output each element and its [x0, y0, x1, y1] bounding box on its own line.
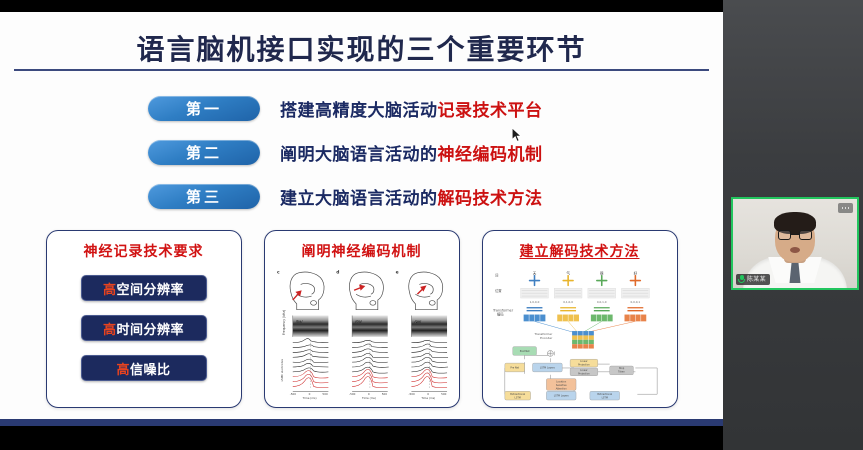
svg-text:500: 500 [381, 392, 387, 396]
bullet-pill-3: 第三 [148, 184, 260, 209]
svg-text:500: 500 [322, 392, 328, 396]
vocal-tract-spectrogram-chart: c d e [273, 265, 451, 401]
svg-text:Post Net: Post Net [519, 350, 529, 353]
glasses-icon [778, 230, 812, 240]
card-row: 神经记录技术要求 高空间分辨率 高时间分辨率 高信噪比 阐明神经编码机制 [0, 230, 723, 412]
requirement-label: 高信噪比 [116, 359, 170, 378]
svg-text:Time (ms): Time (ms) [360, 396, 375, 400]
svg-text:位置: 位置 [494, 288, 501, 293]
svg-text:Time (ms): Time (ms) [420, 396, 435, 400]
shared-screen-area: 语言脑机接口实现的三个重要环节 第一 搭建高精度大脑活动记录技术平台 第二 阐明… [0, 0, 723, 450]
requirement-rest: 信噪比 [130, 363, 171, 378]
svg-text:Frequency (kHz): Frequency (kHz) [281, 310, 285, 335]
participant-video-tile[interactable]: 陈某某 [731, 197, 859, 290]
requirement-box-3: 高信噪比 [81, 355, 207, 381]
bullet-text-3: 建立大脑语言活动的解码技术方法 [280, 184, 543, 209]
bullet-text-plain: 建立大脑语言活动的 [280, 189, 438, 209]
requirement-box-1: 高空间分辨率 [81, 275, 207, 301]
svg-text:Attention: Attention [555, 387, 566, 390]
requirement-prefix: 高 [103, 283, 117, 298]
transformer-flow-diagram: 词位置 Transformer编码 天气 很好 [491, 265, 669, 401]
decoding-architecture-figure: 词位置 Transformer编码 天气 很好 [491, 265, 669, 401]
svg-text:500: 500 [441, 392, 447, 396]
svg-text:LSTM: LSTM [514, 397, 520, 400]
bullet-row: 第二 阐明大脑语言活动的神经编码机制 [0, 134, 723, 170]
title-underline [14, 69, 709, 71]
svg-text:e: e [395, 271, 398, 276]
svg-text:-500: -500 [349, 392, 356, 396]
card-recording-requirements: 神经记录技术要求 高空间分辨率 高时间分辨率 高信噪比 [46, 230, 242, 408]
svg-text:-500: -500 [289, 392, 296, 396]
slide-footer-bar [0, 419, 723, 426]
bullet-text-plain: 搭建高精度大脑活动 [280, 101, 438, 121]
bullet-text-2: 阐明大脑语言活动的神经编码机制 [280, 140, 543, 165]
card-decoding-methods: 建立解码技术方法 词位置 Transformer编码 天气 很好 [482, 230, 678, 408]
requirement-box-2: 高时间分辨率 [81, 315, 207, 341]
microphone-icon [738, 275, 745, 284]
svg-text:Token: Token [618, 370, 625, 373]
bullet-row: 第三 建立大脑语言活动的解码技术方法 [0, 178, 723, 214]
bullet-text-highlight: 记录技术平台 [438, 101, 543, 121]
requirement-label: 高空间分辨率 [103, 279, 184, 298]
svg-text:LSTM Layers: LSTM Layers [553, 395, 569, 398]
svg-text:0,0,0,1: 0,0,0,1 [630, 300, 640, 304]
svg-text:Encoder: Encoder [540, 336, 553, 340]
card-title: 建立解码技术方法 [483, 241, 677, 261]
meeting-screen: 语言脑机接口实现的三个重要环节 第一 搭建高精度大脑活动记录技术平台 第二 阐明… [0, 0, 863, 450]
participant-name: 陈某某 [747, 277, 766, 283]
svg-text:d: d [336, 270, 339, 276]
svg-text:Time (ms): Time (ms) [301, 396, 316, 400]
svg-text:vSMC electrodes: vSMC electrodes [279, 358, 283, 381]
svg-text:LSTM: LSTM [601, 397, 607, 400]
svg-text:-500: -500 [408, 392, 415, 396]
svg-text:0,1,0,0: 0,1,0,0 [563, 300, 573, 304]
svg-text:/da/: /da/ [355, 319, 363, 323]
bullet-row: 第一 搭建高精度大脑活动记录技术平台 [0, 90, 723, 126]
svg-text:c: c [276, 271, 279, 276]
presentation-slide: 语言脑机接口实现的三个重要环节 第一 搭建高精度大脑活动记录技术平台 第二 阐明… [0, 12, 723, 419]
bullet-text-highlight: 解码技术方法 [438, 189, 543, 209]
bullet-text-highlight: 神经编码机制 [438, 145, 543, 165]
requirement-rest: 时间分辨率 [117, 323, 185, 338]
participant-name-badge: 陈某某 [736, 274, 770, 285]
svg-text:/ba/: /ba/ [295, 319, 303, 323]
svg-text:Projection: Projection [578, 372, 590, 375]
bullet-pill-2: 第二 [148, 140, 260, 165]
neural-encoding-figure: c d e [273, 265, 451, 401]
svg-text:编码: 编码 [496, 312, 503, 317]
requirement-prefix: 高 [103, 323, 117, 338]
bullet-list: 第一 搭建高精度大脑活动记录技术平台 第二 阐明大脑语言活动的神经编码机制 第三… [0, 90, 723, 222]
tile-more-options-button[interactable] [838, 203, 853, 213]
mouse-cursor-icon [512, 128, 523, 144]
svg-text:Projection: Projection [578, 364, 590, 367]
bullet-pill-label: 第三 [186, 186, 222, 207]
svg-text:LSTM Layers: LSTM Layers [539, 366, 555, 369]
svg-text:1,0,0,0: 1,0,0,0 [529, 300, 539, 304]
requirement-label: 高时间分辨率 [103, 319, 184, 338]
bullet-text-plain: 阐明大脑语言活动的 [280, 145, 438, 165]
requirement-rest: 空间分辨率 [117, 283, 185, 298]
bullet-pill-1: 第一 [148, 96, 260, 121]
bullet-text-1: 搭建高精度大脑活动记录技术平台 [280, 96, 543, 121]
svg-text:词: 词 [494, 273, 498, 278]
mouth [790, 247, 800, 253]
card-title: 阐明神经编码机制 [265, 241, 459, 261]
slide-title: 语言脑机接口实现的三个重要环节 [0, 28, 723, 68]
bullet-pill-label: 第一 [186, 98, 222, 119]
bullet-pill-label: 第二 [186, 142, 222, 163]
svg-text:Pre Net: Pre Net [510, 366, 519, 369]
svg-text:0,0,1,0: 0,0,1,0 [596, 300, 606, 304]
card-title: 神经记录技术要求 [47, 241, 241, 261]
svg-text:/ga/: /ga/ [414, 319, 422, 323]
requirement-prefix: 高 [116, 363, 130, 378]
card-neural-encoding: 阐明神经编码机制 [264, 230, 460, 408]
